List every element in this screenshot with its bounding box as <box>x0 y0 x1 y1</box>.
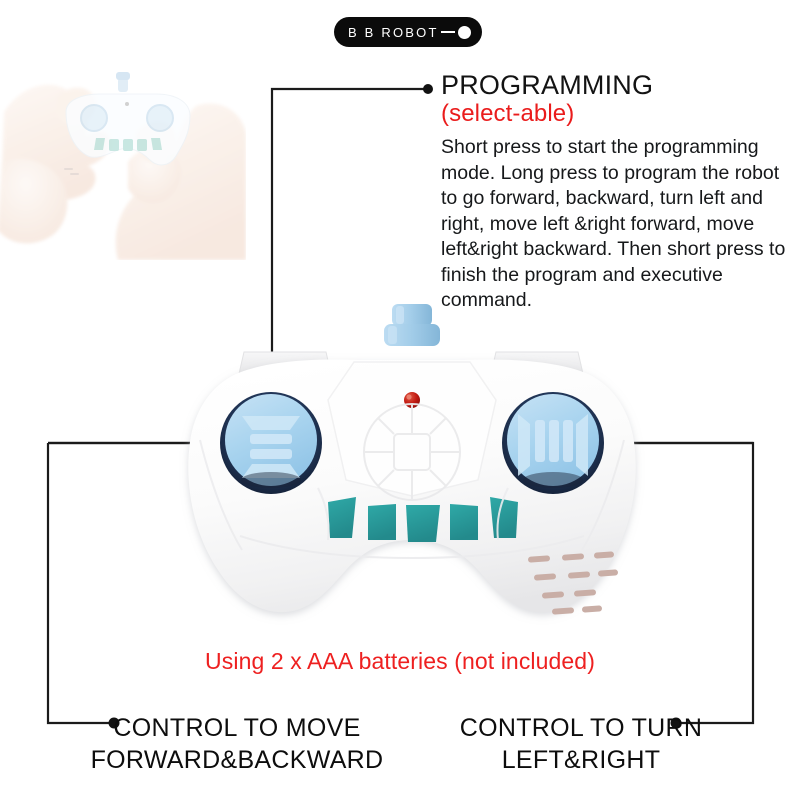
brand-badge-dash <box>441 31 455 33</box>
control-turn-label: CONTROL TO TURN LEFT&RIGHT <box>440 712 722 776</box>
control-move-label-line1: CONTROL TO MOVE <box>113 714 360 742</box>
remote-controller-illustration <box>178 290 648 660</box>
programming-description: Short press to start the programming mod… <box>441 135 793 314</box>
control-move-label-line2: FORWARD&BACKWARD <box>82 744 392 776</box>
led-highlight <box>406 394 411 399</box>
brand-badge-label: B B ROBOT <box>348 25 439 40</box>
left-joystick <box>220 392 322 494</box>
hands-holding-remote-photo <box>0 42 246 260</box>
controller-svg <box>178 290 648 660</box>
brand-badge-dot-icon <box>458 26 471 39</box>
programming-callout-dot <box>423 84 433 94</box>
brand-badge: B B ROBOT <box>334 17 482 47</box>
antenna-icon <box>384 304 440 346</box>
control-move-label: CONTROL TO MOVE FORWARD&BACKWARD <box>82 712 392 776</box>
right-joystick <box>502 392 604 494</box>
battery-note: Using 2 x AAA batteries (not included) <box>0 648 800 675</box>
programming-title: PROGRAMMING <box>441 70 793 100</box>
programming-text-block: PROGRAMMING (select-able) Short press to… <box>441 70 793 314</box>
hands-photo-illustration <box>0 42 246 260</box>
programming-subtitle: (select-able) <box>441 100 793 128</box>
control-turn-label-line1: CONTROL TO TURN <box>460 714 703 742</box>
control-turn-label-line2: LEFT&RIGHT <box>440 744 722 776</box>
